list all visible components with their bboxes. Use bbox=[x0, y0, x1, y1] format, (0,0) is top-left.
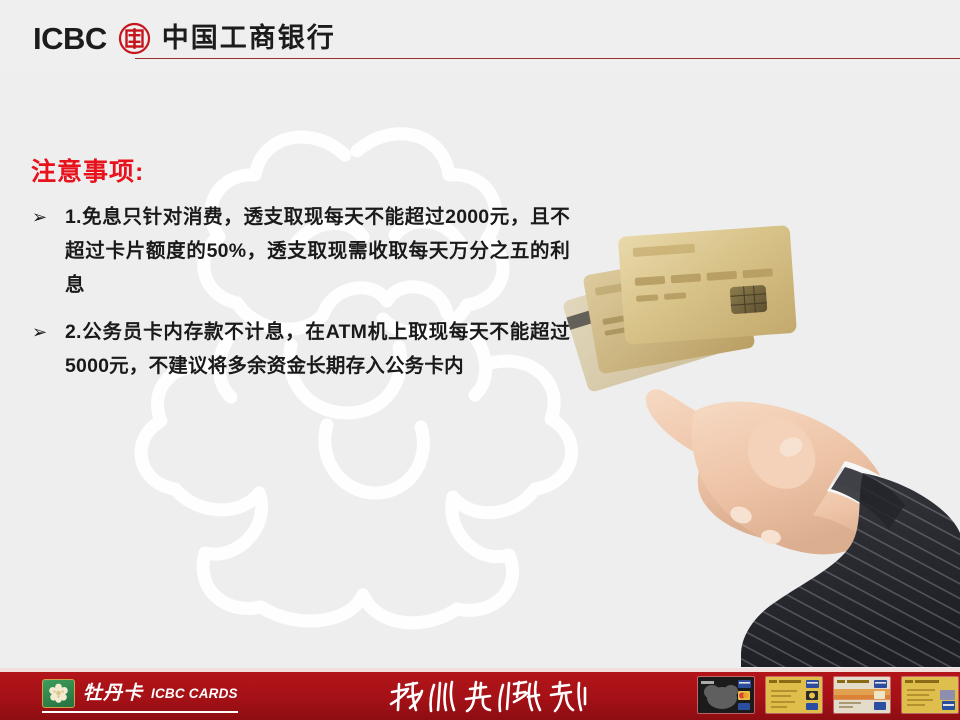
slide-content: 注意事项: ➢ 1.免息只针对消费，透支取现每天不能超过2000元，且不超过卡片… bbox=[0, 72, 960, 672]
card-thumbnail-strip bbox=[697, 676, 959, 714]
card-thumbnail-gold-2 bbox=[833, 676, 891, 714]
card-thumbnail-black bbox=[697, 676, 755, 714]
page-title: 注意事项: bbox=[31, 160, 144, 185]
notes-list: ➢ 1.免息只针对消费，透支取现每天不能超过2000元，且不超过卡片额度的50%… bbox=[30, 200, 570, 396]
peony-card-brand-lockup: 牡丹卡 ICBC CARDS bbox=[42, 679, 238, 708]
icbc-wordmark: ICBC bbox=[33, 23, 107, 54]
icbc-chinese-name: 中国工商银行 bbox=[162, 25, 336, 52]
list-item-text: 1.免息只针对消费，透支取现每天不能超过2000元，且不超过卡片额度的50%，透… bbox=[65, 200, 570, 302]
header-divider-rule bbox=[135, 58, 960, 59]
icbc-logo-lockup: ICBC 中国工商银行 bbox=[33, 22, 336, 55]
list-item-text: 2.公务员卡内存款不计息，在ATM机上取现每天不能超过5000元，不建议将多余资… bbox=[65, 315, 570, 383]
slide-header: ICBC 中国工商银行 bbox=[0, 0, 960, 72]
peony-flower-icon bbox=[42, 679, 75, 708]
icbc-round-emblem-icon bbox=[118, 22, 151, 55]
list-item: ➢ 2.公务员卡内存款不计息，在ATM机上取现每天不能超过5000元，不建议将多… bbox=[30, 315, 570, 383]
list-item: ➢ 1.免息只针对消费，透支取现每天不能超过2000元，且不超过卡片额度的50%… bbox=[30, 200, 570, 302]
card-thumbnail-gold-1 bbox=[765, 676, 823, 714]
card-thumbnail-gold-3 bbox=[901, 676, 959, 714]
arrow-bullet-icon: ➢ bbox=[30, 315, 65, 349]
brand-underline bbox=[42, 711, 238, 713]
slogan-calligraphy bbox=[386, 680, 591, 714]
slide: ICBC 中国工商银行 注意事项: ➢ 1.免息只针对消费，透支取现每天不能超过… bbox=[0, 0, 960, 720]
arrow-bullet-icon: ➢ bbox=[30, 200, 65, 234]
peony-card-chinese-name: 牡丹卡 bbox=[83, 684, 143, 703]
peony-card-english-name: ICBC CARDS bbox=[151, 687, 238, 701]
